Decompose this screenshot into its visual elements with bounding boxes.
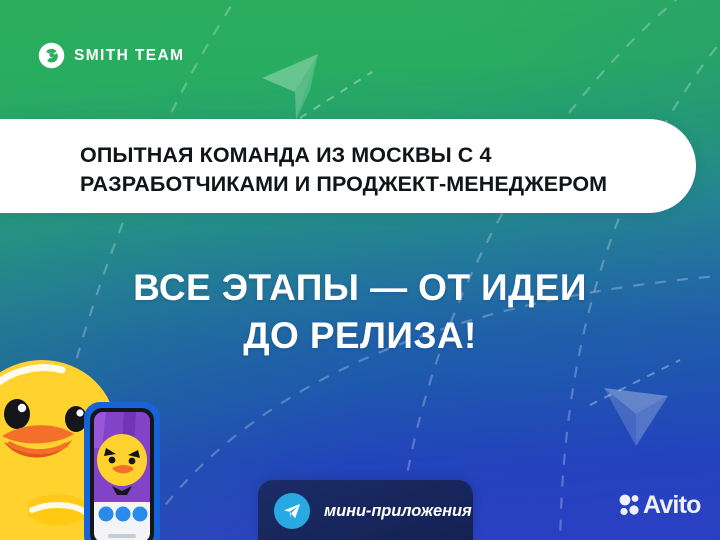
duck-eye-left-glint bbox=[18, 404, 26, 412]
telegram-badge-label: мини-приложения bbox=[324, 502, 472, 521]
brand-logo: SMITH TEAM bbox=[38, 42, 184, 69]
avito-wordmark: Avito bbox=[643, 493, 701, 518]
circle-swirl-logo-icon bbox=[38, 42, 65, 69]
avito-dots-icon bbox=[618, 492, 640, 518]
promo-banner-image: SMITH TEAM ОПЫТНАЯ КОМАНДА ИЗ МОСКВЫ С 4… bbox=[0, 0, 720, 540]
banner-subheadline: ОПЫТНАЯ КОМАНДА ИЗ МОСКВЫ С 4 РАЗРАБОТЧИ… bbox=[80, 141, 680, 199]
duck-eye-right-glint bbox=[76, 409, 83, 416]
call-icon bbox=[116, 507, 131, 522]
phone-illustration bbox=[84, 402, 160, 540]
duck-and-phone-illustration bbox=[0, 352, 174, 540]
brand-name: SMITH TEAM bbox=[74, 47, 184, 65]
paper-plane-top-icon bbox=[262, 54, 318, 120]
paper-plane-bottom-icon bbox=[604, 388, 668, 446]
headline-line-1: ВСЕ ЭТАПЫ — ОТ ИДЕИ bbox=[0, 264, 720, 312]
duck-eye-right bbox=[65, 406, 87, 432]
more-icon bbox=[133, 507, 148, 522]
phone-home-bar bbox=[108, 534, 136, 538]
telegram-mini-apps-badge[interactable]: мини-приложения bbox=[258, 480, 473, 540]
chat-icon bbox=[99, 507, 114, 522]
duck-eye-left bbox=[4, 399, 30, 429]
avito-watermark: Avito bbox=[618, 492, 701, 518]
phone-screen-duck-head bbox=[97, 434, 147, 486]
telegram-paper-plane-icon bbox=[274, 493, 310, 529]
main-headline: ВСЕ ЭТАПЫ — ОТ ИДЕИ ДО РЕЛИЗА! bbox=[0, 264, 720, 360]
